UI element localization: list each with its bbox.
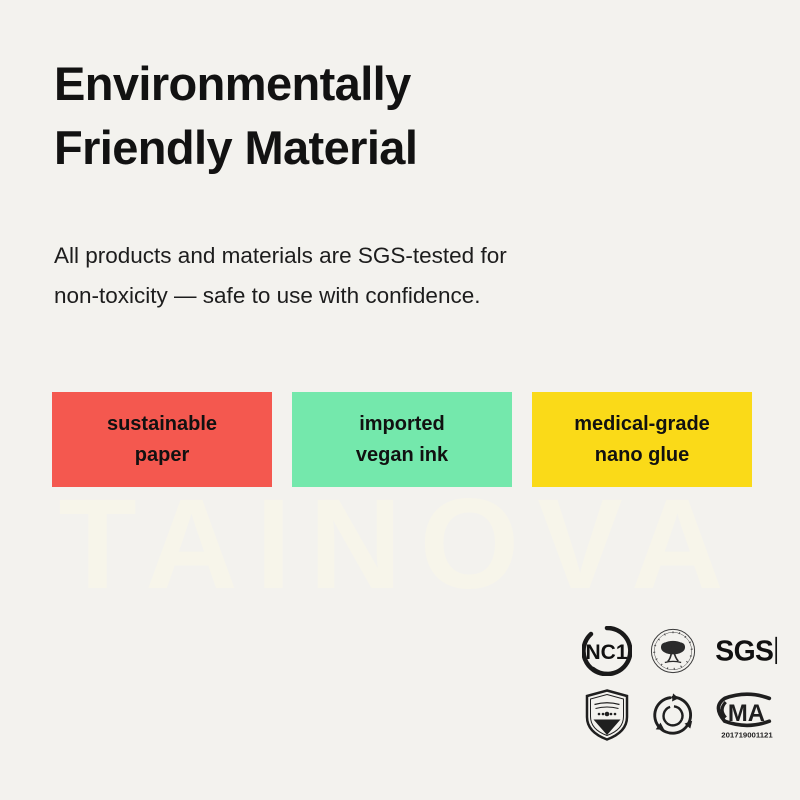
chip-label-line-1: sustainable [107,409,217,440]
description-text: All products and materials are SGS-teste… [54,236,674,316]
sgs-certification-icon: SGS [708,620,786,682]
cma-certification-icon: MA 201719001121 [708,684,786,746]
material-chip-medical-grade-nano-glue: medical-grade nano glue [532,392,752,487]
description-line-1: All products and materials are SGS-teste… [54,236,674,276]
recycle-icon [642,684,704,746]
chip-label-line-2: vegan ink [356,440,448,471]
page-title-line-1: Environmentally [54,52,714,116]
poster-canvas: TAINOVA Environmentally Friendly Materia… [0,0,800,800]
chip-label-line-2: nano glue [595,440,689,471]
svg-text:NC1: NC1 [585,641,627,664]
page-title-line-2: Friendly Material [54,116,714,180]
material-chip-imported-vegan-ink: imported vegan ink [292,392,512,487]
material-chip-group: sustainable paper imported vegan ink med… [52,392,752,487]
cma-certificate-number: 201719001121 [721,730,773,739]
certification-badge-group: NC1 SGS [576,620,786,746]
chip-label-line-2: paper [135,440,189,471]
forest-seal-icon [642,620,704,682]
chip-label-line-1: imported [359,409,445,440]
page-title: Environmentally Friendly Material [54,52,714,181]
brand-watermark: TAINOVA [0,481,800,609]
material-chip-sustainable-paper: sustainable paper [52,392,272,487]
shield-certification-icon [576,684,638,746]
chip-label-line-1: medical-grade [574,409,710,440]
svg-text:MA: MA [728,700,765,727]
description-line-2: non-toxicity — safe to use with confiden… [54,276,674,316]
svg-text:SGS: SGS [715,636,773,668]
nc1-certification-icon: NC1 [576,620,638,682]
